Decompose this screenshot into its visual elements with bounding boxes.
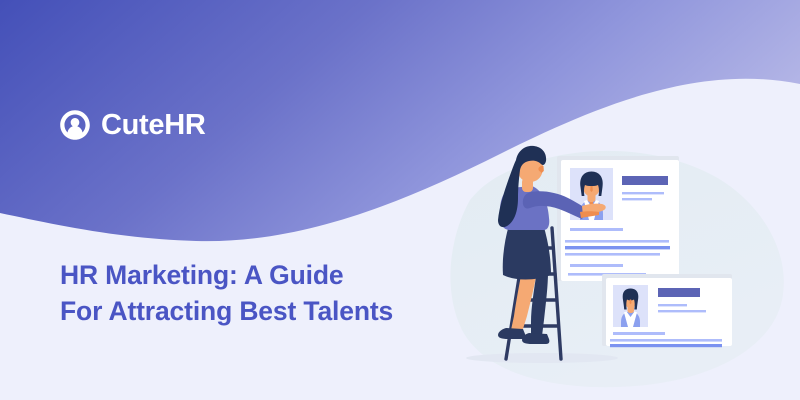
card-primary-header-line [622, 198, 652, 200]
card-primary-body-line [570, 228, 623, 231]
card-secondary-header-line [658, 304, 687, 306]
page-title-line-2: For Attracting Best Talents [60, 294, 393, 330]
person-in-circle-icon [58, 108, 92, 142]
resume-card-secondary [602, 274, 732, 347]
hr-marketing-banner: CuteHR HR Marketing: A Guide For Attract… [0, 0, 800, 400]
card-primary-body-line [565, 240, 669, 243]
card-secondary-header-line [658, 310, 706, 312]
skirt [503, 224, 551, 280]
card-secondary-body-line [610, 339, 722, 342]
card-primary-name-bar [622, 176, 668, 185]
card-primary-body-line [565, 253, 660, 256]
page-title: HR Marketing: A Guide For Attracting Bes… [60, 258, 393, 329]
card-secondary-avatar [613, 285, 648, 327]
shoe-front [498, 328, 525, 339]
card-secondary-body-line [613, 332, 665, 335]
illustration-woman-on-ladder-with-resumes [430, 130, 800, 400]
brand-logo[interactable]: CuteHR [58, 108, 206, 142]
shoe-back [522, 333, 549, 344]
card-primary-header-line [622, 192, 664, 194]
card-secondary-name-bar [658, 288, 700, 297]
ground-shadow [466, 353, 618, 363]
card-primary-body-line [570, 264, 623, 267]
card-primary-body-line [565, 246, 670, 249]
resume-card-primary [557, 156, 679, 281]
brand-name: CuteHR [101, 111, 206, 140]
page-title-line-1: HR Marketing: A Guide [60, 258, 393, 294]
card-secondary-body-line [610, 344, 722, 347]
